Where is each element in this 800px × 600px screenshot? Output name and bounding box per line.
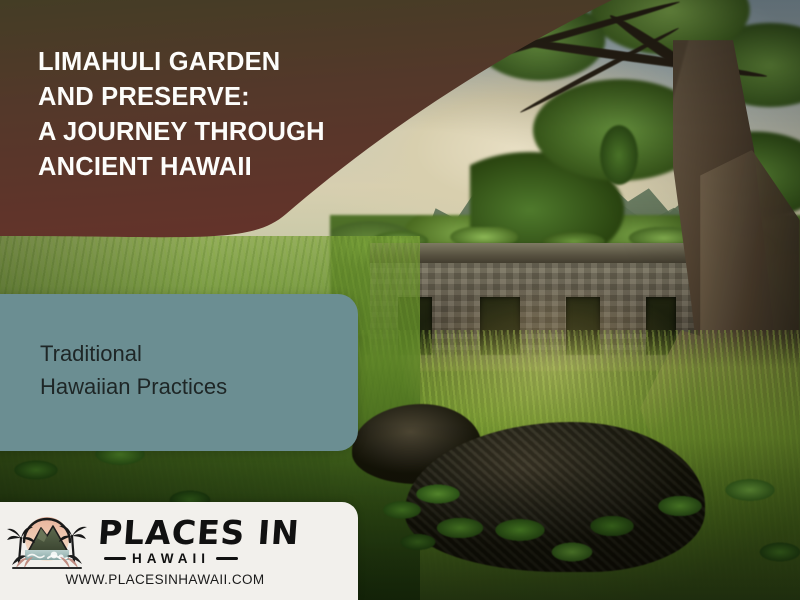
- subtitle-line-1: Traditional: [40, 337, 340, 370]
- hawaii-island-scene-icon: [4, 512, 90, 570]
- subtitle-text: Traditional Hawaiian Practices: [40, 337, 340, 403]
- logo-dash-left-icon: [104, 557, 126, 560]
- page-title: LIMAHULI GARDEN AND PRESERVE: A JOURNEY …: [38, 45, 378, 185]
- subtitle-card: Traditional Hawaiian Practices: [0, 294, 358, 451]
- logo-dash-right-icon: [216, 557, 238, 560]
- logo-row: PLACES IN HAWAII: [4, 510, 344, 572]
- logo-brand-line-2-row: HAWAII: [104, 551, 350, 566]
- hero-card: LIMAHULI GARDEN AND PRESERVE: A JOURNEY …: [0, 0, 800, 600]
- logo-wordmark: PLACES IN HAWAII: [98, 516, 344, 566]
- logo-brand-line-1: PLACES IN: [97, 516, 345, 550]
- title-line-2: AND PRESERVE:: [38, 80, 378, 115]
- subtitle-line-2: Hawaiian Practices: [40, 370, 340, 403]
- logo-brand-line-2: HAWAII: [132, 551, 210, 566]
- title-line-1: LIMAHULI GARDEN: [38, 45, 378, 80]
- brand-logo-card[interactable]: PLACES IN HAWAII WWW.PLACESINHAWAII.COM: [0, 502, 358, 600]
- title-line-3: A JOURNEY THROUGH: [38, 115, 378, 150]
- title-line-4: ANCIENT HAWAII: [38, 150, 378, 185]
- logo-website-url[interactable]: WWW.PLACESINHAWAII.COM: [0, 572, 344, 587]
